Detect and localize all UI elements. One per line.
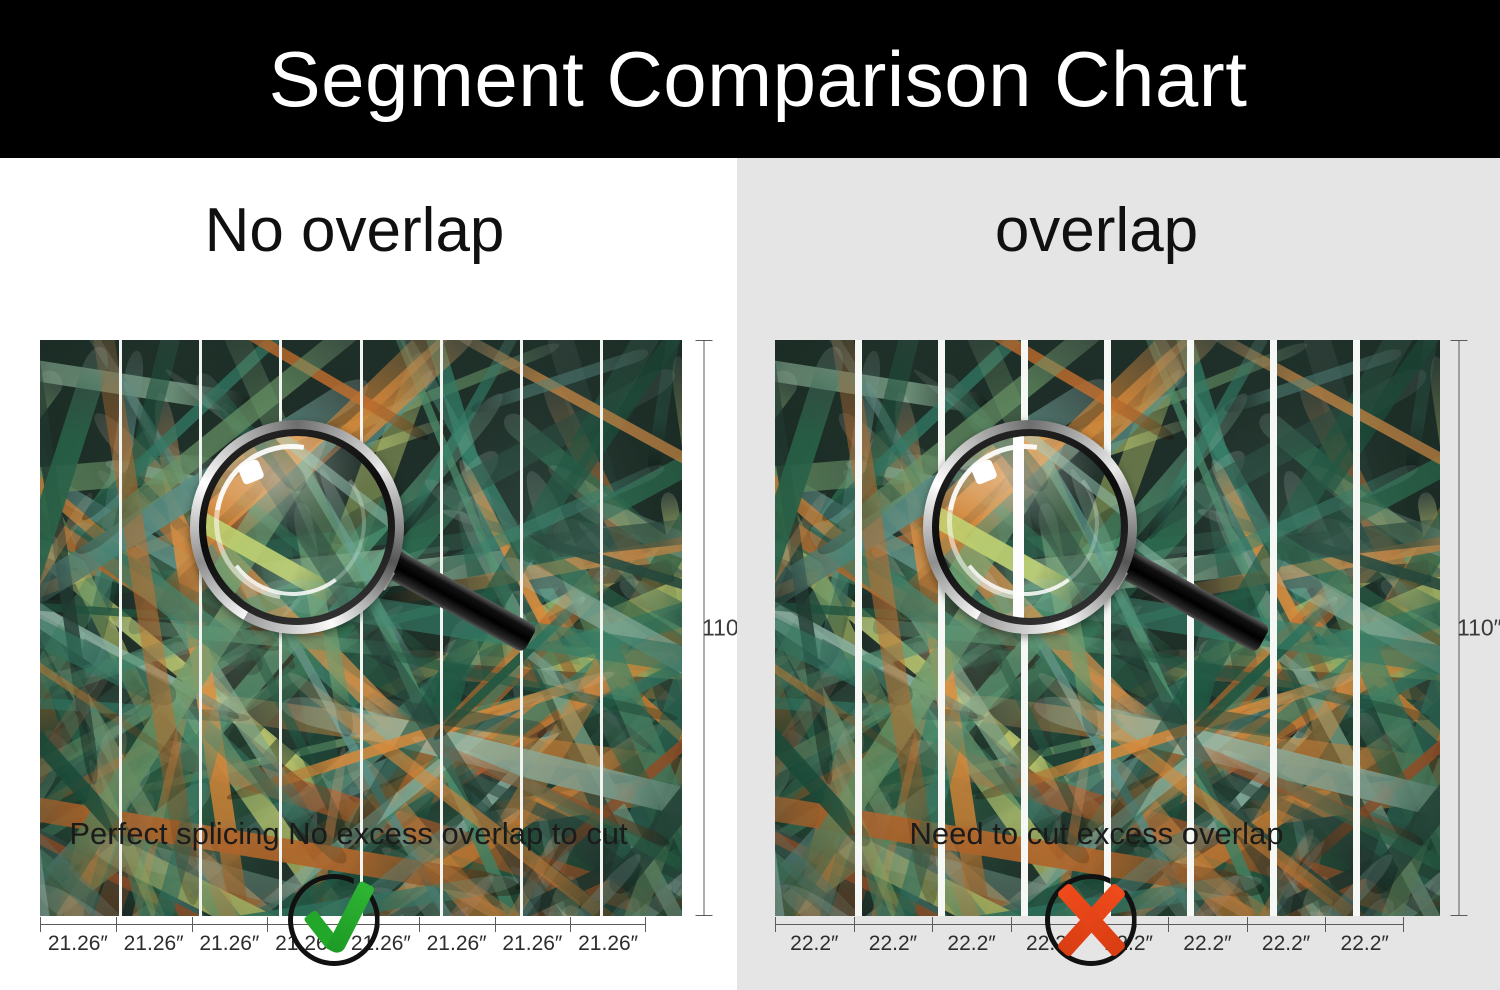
cross-mark [1051,880,1131,960]
height-dimension-label: 110″ [1457,615,1500,642]
verdict-overlap [709,870,1472,970]
dimension-cap-top [1451,340,1468,341]
panel-heading-overlap: overlap [715,200,1478,262]
caption-no-overlap: Perfect splicing No excess overlap to cu… [0,818,717,849]
panel-overlap: overlap [737,158,1500,990]
panel-heading-no-overlap: No overlap [0,200,723,262]
title-bar: Segment Comparison Chart [0,0,1500,158]
page-title: Segment Comparison Chart [269,40,1248,118]
caption-overlap: Need to cut excess overlap [715,818,1478,849]
panel-no-overlap: No overlap [0,158,737,990]
cross-circle-icon [1041,870,1141,970]
check-mark [298,892,376,954]
comparison-panels: No overlap [0,158,1500,990]
check-circle-icon [284,870,384,970]
verdict-no-overlap [0,870,702,970]
dimension-cap-top [696,340,713,341]
